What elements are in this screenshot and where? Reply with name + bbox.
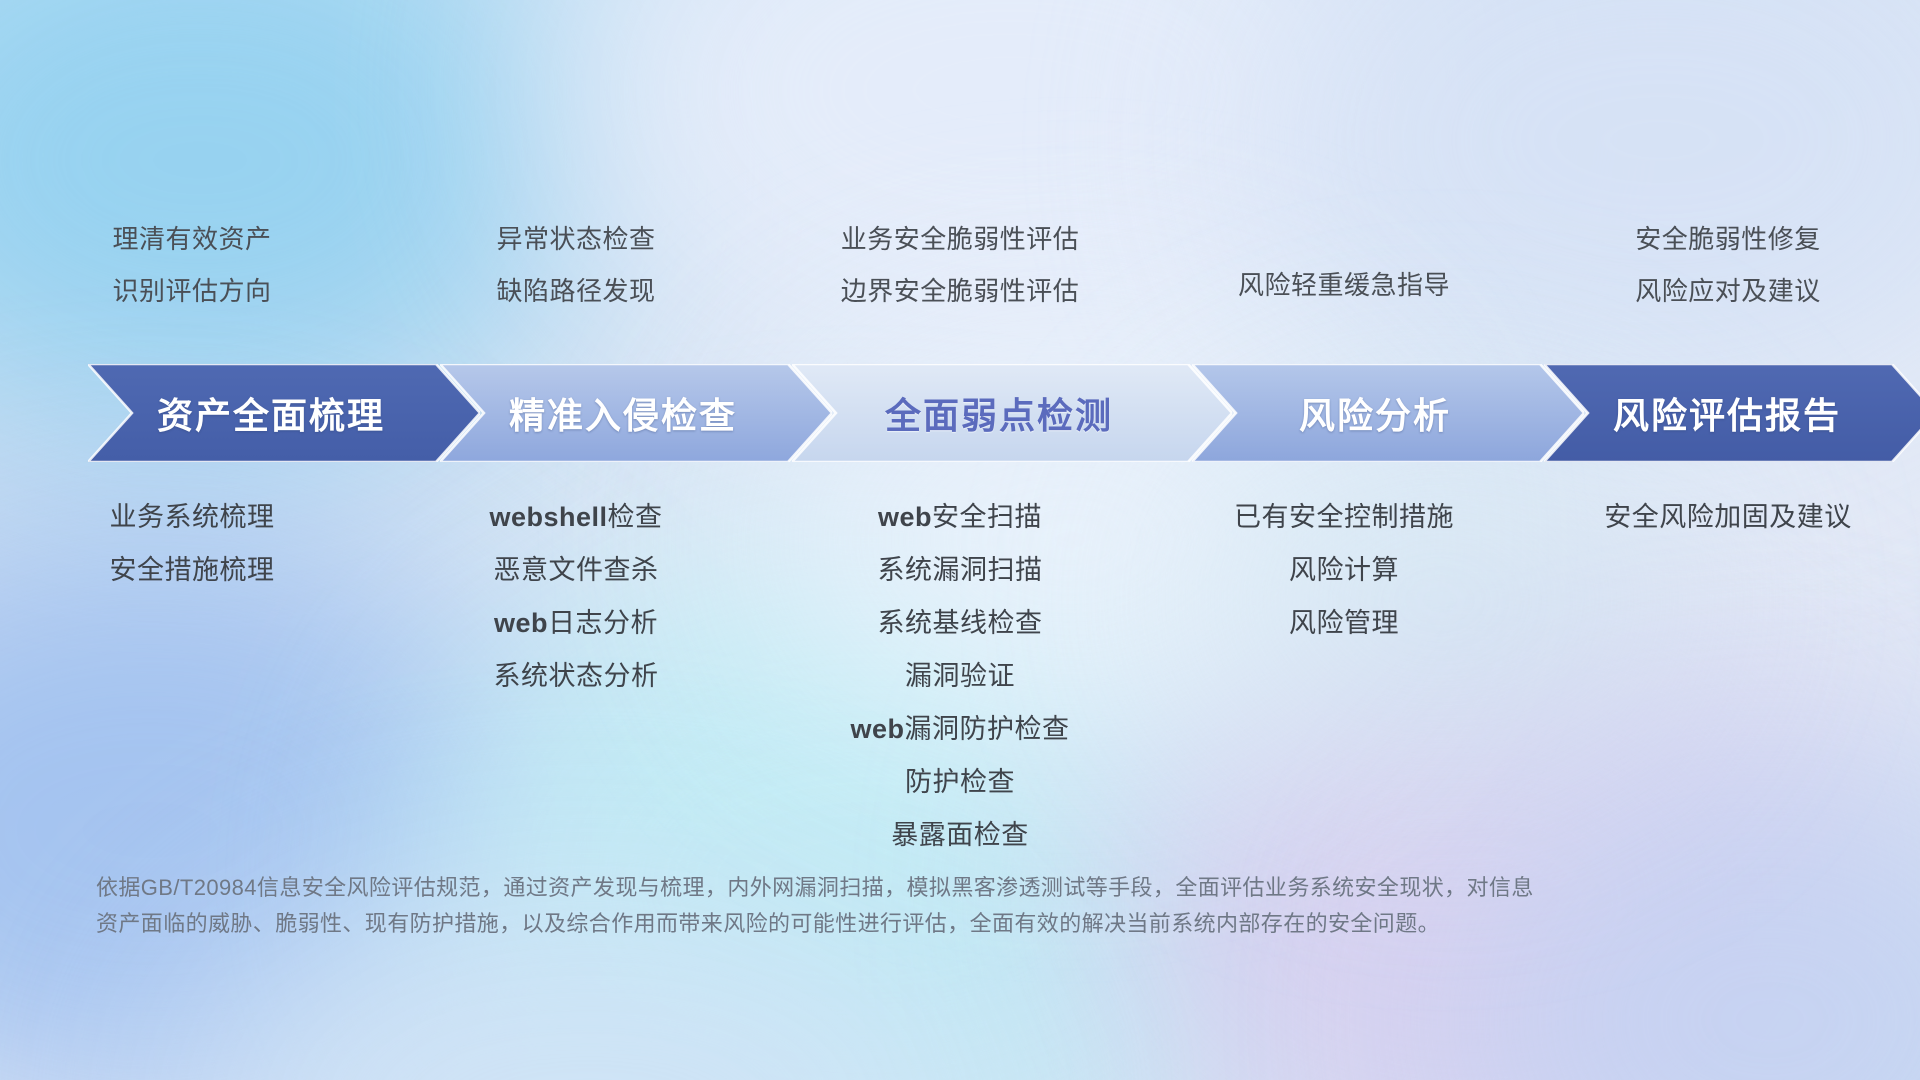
stage-item: 安全风险加固及建议 [1604,504,1852,531]
top-note: 异常状态检查 [496,226,655,252]
stage-item: 防护检查 [905,769,1015,796]
stage-items-column-4: 已有安全控制措施风险计算风险管理 [1152,504,1536,875]
stage-items-column-2: webshell检查恶意文件查杀web日志分析系统状态分析 [384,504,768,875]
stage-item-keyword: webshell [489,502,607,532]
top-note: 边界安全脆弱性评估 [841,278,1080,304]
chevron-band: 资产全面梳理精准入侵检查全面弱点检测风险分析风险评估报告 [88,364,1844,462]
stage-item: 恶意文件查杀 [494,557,659,584]
top-notes-row: 理清有效资产识别评估方向异常状态检查缺陷路径发现业务安全脆弱性评估边界安全脆弱性… [0,226,1920,330]
top-note: 风险轻重缓急指导 [1238,272,1450,298]
stage-title: 资产全面梳理 [88,387,480,439]
stage-item: 漏洞验证 [905,663,1015,690]
process-stage-4[interactable]: 风险分析 [1192,364,1584,462]
stage-item: 业务系统梳理 [110,504,275,531]
top-notes-column-4: 风险轻重缓急指导 [1152,226,1536,330]
process-stage-1[interactable]: 资产全面梳理 [88,364,480,462]
process-diagram: 理清有效资产识别评估方向异常状态检查缺陷路径发现业务安全脆弱性评估边界安全脆弱性… [0,0,1920,1080]
top-notes-column-1: 理清有效资产识别评估方向 [0,226,384,330]
process-stage-2[interactable]: 精准入侵检查 [440,364,832,462]
stage-title: 精准入侵检查 [440,387,832,439]
top-note: 业务安全脆弱性评估 [841,226,1080,252]
stage-item: 安全措施梳理 [110,557,275,584]
stage-title: 风险评估报告 [1544,387,1920,439]
top-notes-column-5: 安全脆弱性修复风险应对及建议 [1536,226,1920,330]
top-note: 缺陷路径发现 [496,278,655,304]
stage-title: 全面弱点检测 [792,387,1232,439]
top-note: 安全脆弱性修复 [1635,226,1821,252]
stage-item-keyword: web [850,714,904,744]
stage-item: webshell检查 [489,504,662,531]
stage-item: 风险管理 [1289,610,1399,637]
footer-description: 依据GB/T20984信息安全风险评估规范，通过资产发现与梳理，内外网漏洞扫描，… [96,870,1616,941]
stage-item: 暴露面检查 [891,822,1029,849]
stage-item: web日志分析 [494,610,658,637]
stage-item-keyword: web [494,608,548,638]
process-stage-5[interactable]: 风险评估报告 [1544,364,1920,462]
top-notes-column-3: 业务安全脆弱性评估边界安全脆弱性评估 [768,226,1152,330]
bottom-items-row: 业务系统梳理安全措施梳理webshell检查恶意文件查杀web日志分析系统状态分… [0,504,1920,875]
stage-item-keyword: web [878,502,932,532]
stage-item: 系统基线检查 [878,610,1043,637]
top-note: 识别评估方向 [112,278,271,304]
stage-title: 风险分析 [1192,387,1584,439]
stage-items-column-3: web安全扫描系统漏洞扫描系统基线检查漏洞验证web漏洞防护检查防护检查暴露面检… [768,504,1152,875]
stage-items-column-5: 安全风险加固及建议 [1536,504,1920,875]
stage-item: web漏洞防护检查 [850,716,1069,743]
stage-item: 已有安全控制措施 [1234,504,1454,531]
top-note: 理清有效资产 [112,226,271,252]
stage-items-column-1: 业务系统梳理安全措施梳理 [0,504,384,875]
process-stage-3[interactable]: 全面弱点检测 [792,364,1232,462]
stage-item: web安全扫描 [878,504,1042,531]
stage-item: 系统漏洞扫描 [878,557,1043,584]
stage-item: 风险计算 [1289,557,1399,584]
stage-item: 系统状态分析 [494,663,659,690]
top-notes-column-2: 异常状态检查缺陷路径发现 [384,226,768,330]
top-note: 风险应对及建议 [1635,278,1821,304]
footer-line-2: 资产面临的威胁、脆弱性、现有防护措施，以及综合作用而带来风险的可能性进行评估，全… [96,906,1616,942]
footer-line-1: 依据GB/T20984信息安全风险评估规范，通过资产发现与梳理，内外网漏洞扫描，… [96,870,1616,906]
